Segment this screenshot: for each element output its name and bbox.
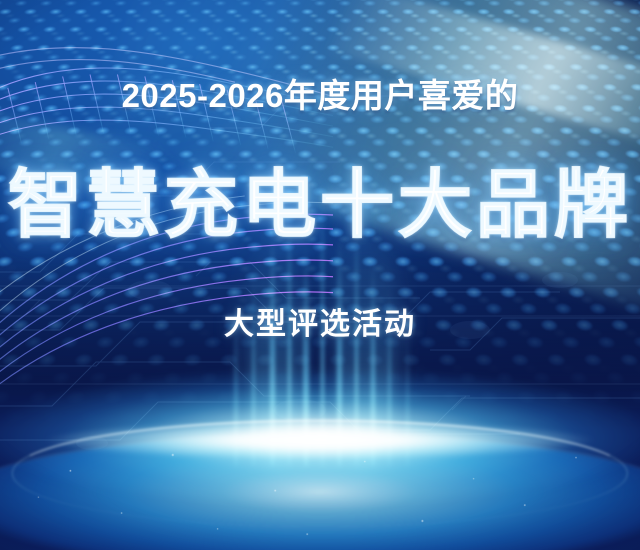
poster-canvas: 2025-2026年度用户喜爱的 智慧充电十大品牌 大型评选活动: [0, 0, 640, 550]
poster-kicker: 2025-2026年度用户喜爱的: [0, 69, 640, 117]
poster-subline: 大型评选活动: [0, 299, 640, 343]
poster-headline: 智慧充电十大品牌: [0, 168, 640, 242]
